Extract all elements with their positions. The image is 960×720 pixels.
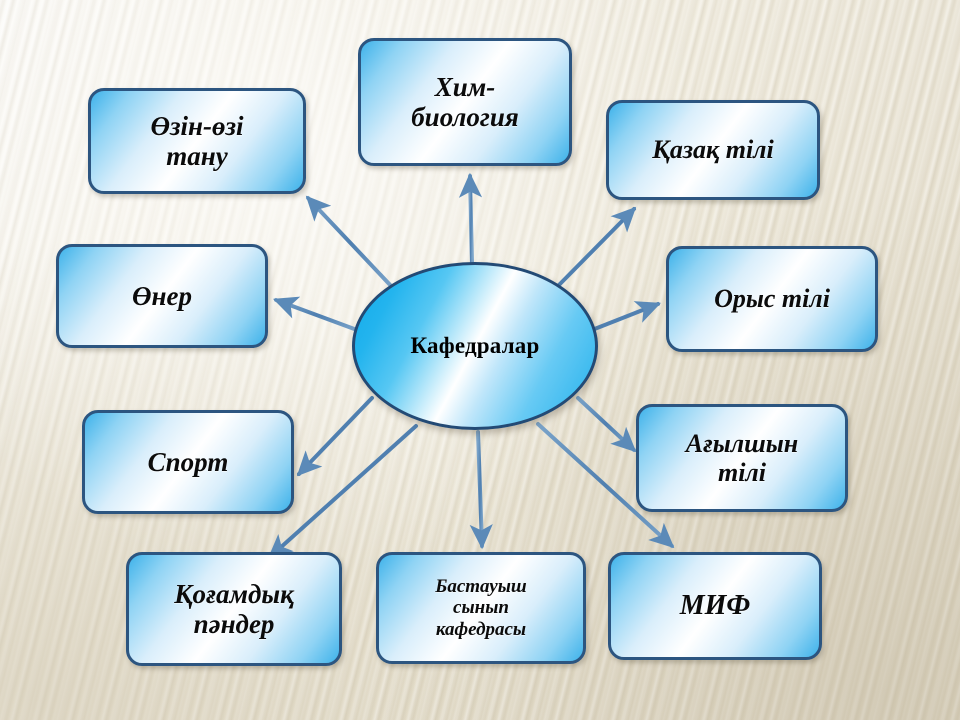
center-node-label: Кафедралар (410, 333, 539, 359)
node-label: Қазақ тілі (646, 135, 779, 164)
slide-canvas: Өзін-өзітану Хим-биология Қазақ тілі Өне… (0, 0, 960, 720)
node-sport[interactable]: Спорт (82, 410, 294, 514)
connector-center-to-orys-tili (592, 304, 658, 330)
node-orys-tili[interactable]: Орыс тілі (666, 246, 878, 352)
connector-center-to-ozin-ozi-tanu (308, 198, 393, 288)
node-qogamdyq-pander[interactable]: Қоғамдықпәндер (126, 552, 342, 666)
node-ozin-ozi-tanu[interactable]: Өзін-өзітану (88, 88, 306, 194)
connector-center-to-him-biologia (470, 176, 472, 264)
node-him-biologia[interactable]: Хим-биология (358, 38, 572, 166)
node-label: Бастауышсыныпкафедрасы (429, 576, 532, 640)
node-mif[interactable]: МИФ (608, 552, 822, 660)
node-label: МИФ (674, 590, 756, 621)
node-bastauysh[interactable]: Бастауышсыныпкафедрасы (376, 552, 586, 664)
connector-center-to-agylshyn-tili (578, 398, 634, 450)
connector-center-to-sport (299, 398, 372, 474)
node-label: Өзін-өзітану (144, 111, 249, 171)
node-label: Ағылшынтілі (680, 429, 804, 487)
node-qazaq-tili[interactable]: Қазақ тілі (606, 100, 820, 200)
node-label: Хим-биология (405, 72, 525, 132)
node-oner[interactable]: Өнер (56, 244, 268, 348)
node-label: Орыс тілі (708, 284, 836, 313)
node-agylshyn-tili[interactable]: Ағылшынтілі (636, 404, 848, 512)
center-node-kafedralar[interactable]: Кафедралар (352, 262, 598, 430)
connector-center-to-oner (276, 300, 357, 330)
connector-center-to-bastauysh (478, 432, 482, 546)
node-label: Қоғамдықпәндер (168, 579, 300, 639)
node-label: Өнер (126, 281, 198, 311)
connector-center-to-qazaq-tili (556, 209, 634, 288)
node-label: Спорт (142, 447, 235, 477)
